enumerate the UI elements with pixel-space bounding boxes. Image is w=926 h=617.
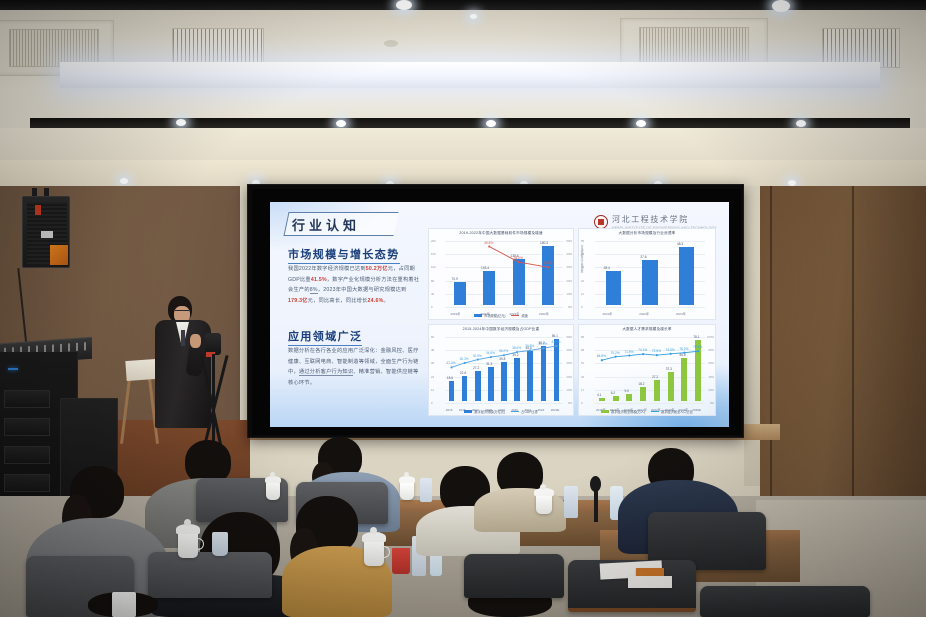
conference-room-photo: 行业认知 河北工程技术学院 HEBEI INSTITUTE OF ENGINEE… (0, 0, 926, 617)
photo-vignette (0, 0, 926, 617)
